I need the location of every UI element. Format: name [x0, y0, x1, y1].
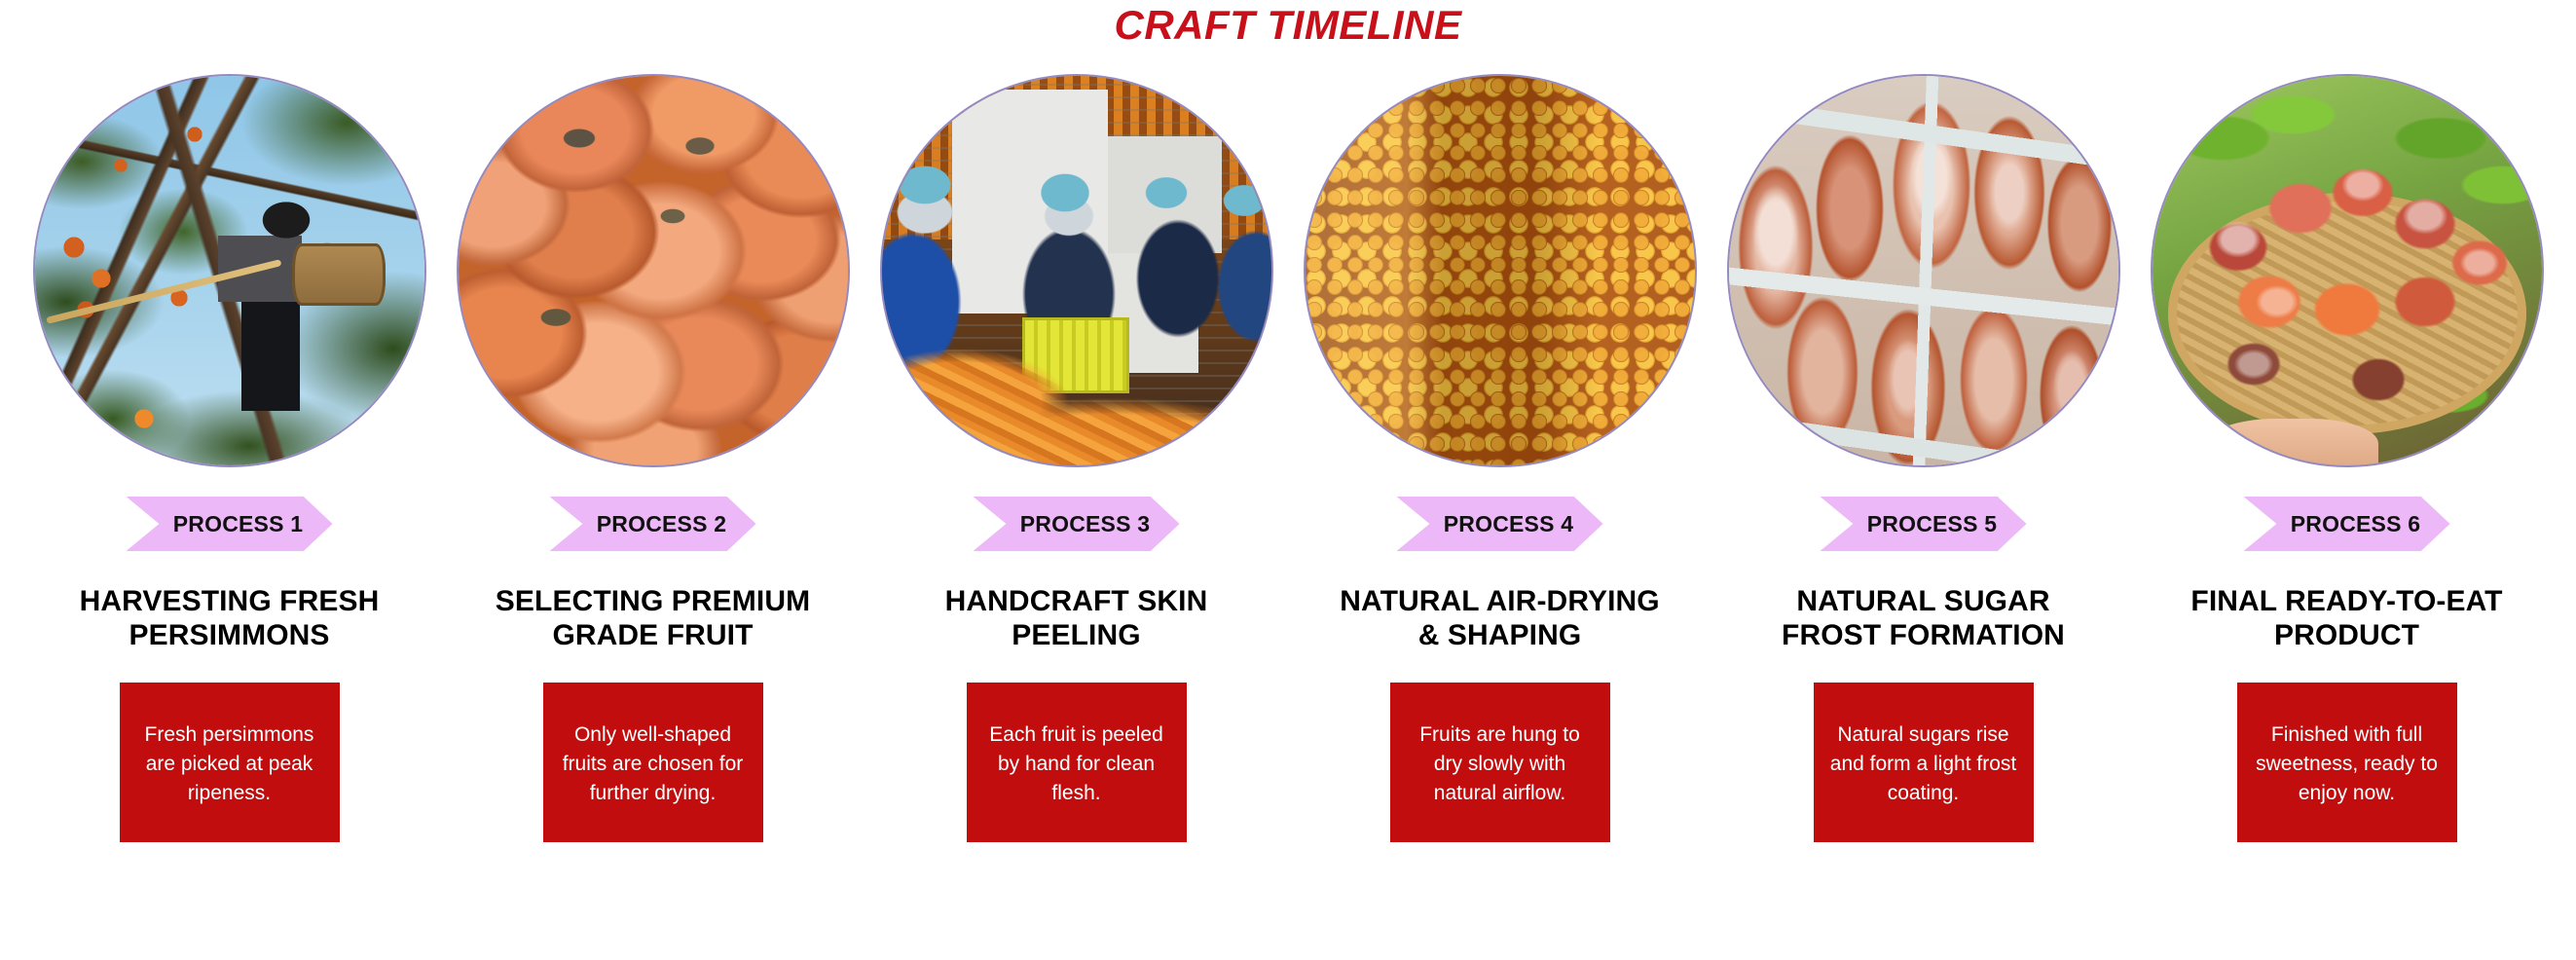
process-badge-4[interactable]: PROCESS 4	[1397, 497, 1603, 551]
sugar-frost-photo	[1729, 76, 2118, 465]
process-badge-6[interactable]: PROCESS 6	[2244, 497, 2450, 551]
step-description-card-5: Natural sugars rise and form a light fro…	[1814, 683, 2034, 842]
timeline-row: PROCESS 1 HARVESTING FRESH PERSIMMONS Fr…	[18, 76, 2558, 842]
drying-rack-layer	[1729, 76, 2118, 465]
step-description-card-6: Finished with full sweetness, ready to e…	[2237, 683, 2457, 842]
calyx-layer	[459, 76, 848, 465]
page-title: CRAFT TIMELINE	[0, 2, 2576, 49]
holding-hand	[2207, 419, 2378, 465]
step-heading-1: HARVESTING FRESH PERSIMMONS	[69, 584, 390, 653]
step-heading-4: NATURAL AIR-DRYING & SHAPING	[1340, 584, 1661, 653]
process-badge-1[interactable]: PROCESS 1	[127, 497, 333, 551]
peel-strings-layer	[882, 76, 1271, 465]
process-badge-3[interactable]: PROCESS 3	[974, 497, 1180, 551]
infographic-page: CRAFT TIMELINE PROCESS 1 HARVESTING FRES…	[0, 0, 2576, 960]
peeling-photo	[882, 76, 1271, 465]
process-badge-5[interactable]: PROCESS 5	[1821, 497, 2027, 551]
harvesting-photo	[35, 76, 424, 465]
step-3-photo-wrap	[882, 76, 1271, 465]
step-description-text-3: Each fruit is peeled by hand for clean f…	[980, 720, 1173, 807]
air-drying-photo	[1306, 76, 1695, 465]
step-1-photo-wrap	[35, 76, 424, 465]
step-description-card-4: Fruits are hung to dry slowly with natur…	[1390, 683, 1610, 842]
finished-frost-layer	[2153, 76, 2542, 465]
timeline-step-5: PROCESS 5 NATURAL SUGAR FROST FORMATION …	[1711, 76, 2135, 842]
timeline-step-4: PROCESS 4 NATURAL AIR-DRYING & SHAPING F…	[1288, 76, 1711, 842]
step-description-text-5: Natural sugars rise and form a light fro…	[1827, 720, 2020, 807]
lighting-layer	[1306, 76, 1695, 465]
selecting-photo	[459, 76, 848, 465]
step-heading-6: FINAL READY-TO-EAT PRODUCT	[2187, 584, 2508, 653]
step-description-text-2: Only well-shaped fruits are chosen for f…	[557, 720, 750, 807]
step-heading-5: NATURAL SUGAR FROST FORMATION	[1763, 584, 2084, 653]
timeline-step-2: PROCESS 2 SELECTING PREMIUM GRADE FRUIT …	[441, 76, 865, 842]
step-5-photo-wrap	[1729, 76, 2118, 465]
step-heading-3: HANDCRAFT SKIN PEELING	[916, 584, 1237, 653]
timeline-step-3: PROCESS 3 HANDCRAFT SKIN PEELING Each fr…	[865, 76, 1288, 842]
process-badge-2[interactable]: PROCESS 2	[550, 497, 756, 551]
step-6-photo-wrap	[2153, 76, 2542, 465]
harvest-basket	[292, 243, 386, 306]
step-description-card-3: Each fruit is peeled by hand for clean f…	[967, 683, 1187, 842]
step-description-text-1: Fresh persimmons are picked at peak ripe…	[133, 720, 326, 807]
step-2-photo-wrap	[459, 76, 848, 465]
step-description-card-1: Fresh persimmons are picked at peak ripe…	[120, 683, 340, 842]
step-description-text-4: Fruits are hung to dry slowly with natur…	[1404, 720, 1597, 807]
timeline-step-1: PROCESS 1 HARVESTING FRESH PERSIMMONS Fr…	[18, 76, 441, 842]
final-product-photo	[2153, 76, 2542, 465]
step-heading-2: SELECTING PREMIUM GRADE FRUIT	[493, 584, 814, 653]
step-4-photo-wrap	[1306, 76, 1695, 465]
timeline-step-6: PROCESS 6 FINAL READY-TO-EAT PRODUCT Fin…	[2135, 76, 2558, 842]
step-description-text-6: Finished with full sweetness, ready to e…	[2251, 720, 2444, 807]
step-description-card-2: Only well-shaped fruits are chosen for f…	[543, 683, 763, 842]
